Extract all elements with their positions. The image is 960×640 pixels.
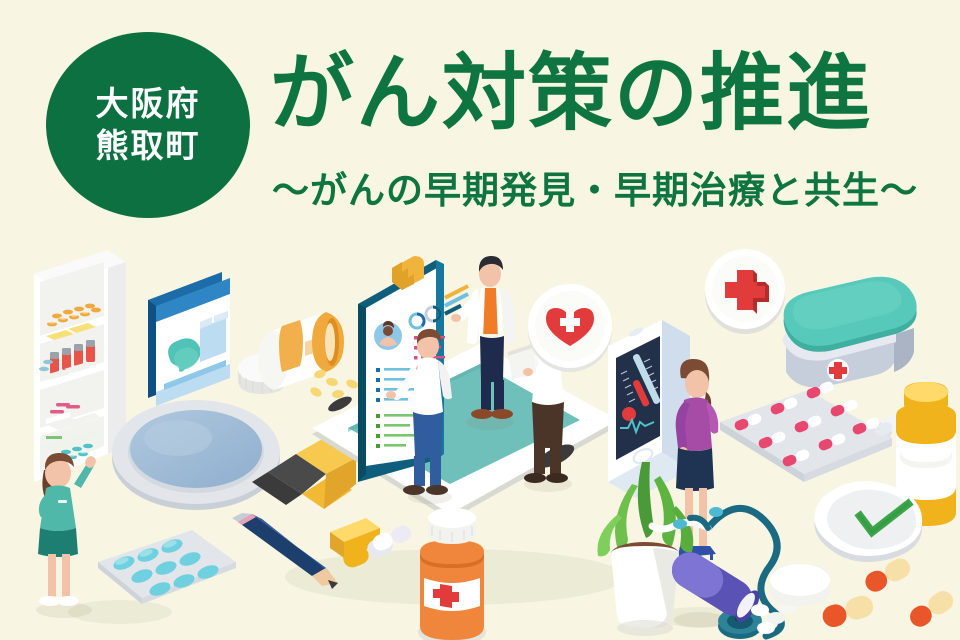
nurse-figure (36, 453, 96, 618)
first-aid-kit (782, 277, 917, 388)
badge-line-town: 熊取町 (96, 125, 201, 167)
browser-window-brain-scan (148, 272, 230, 406)
pencil (232, 513, 338, 589)
red-cross-badge (705, 249, 785, 334)
medical-illustration (0, 232, 960, 640)
blister-pack-blue (98, 530, 236, 604)
banner-root: 大阪府 熊取町 がん対策の推進 〜がんの早期発見・早期治療と共生〜 (0, 0, 960, 640)
magnifying-glass (112, 400, 358, 510)
pill-bottle-spilled (238, 312, 359, 399)
page-subtitle: 〜がんの早期発見・早期治療と共生〜 (272, 160, 932, 214)
checkmark-badge (814, 481, 922, 562)
pharmacy-shelf (34, 250, 126, 482)
capsules-orange (820, 555, 957, 631)
badge-line-prefecture: 大阪府 (96, 83, 201, 125)
page-title: がん対策の推進 (270, 48, 930, 139)
medicine-bottle-orange (418, 508, 486, 640)
prefecture-town-badge: 大阪府 熊取町 (46, 32, 250, 218)
header: 大阪府 熊取町 がん対策の推進 〜がんの早期発見・早期治療と共生〜 (0, 0, 960, 240)
heart-cross-badge (528, 284, 612, 372)
spilled-pills (309, 368, 359, 398)
blister-pack-pink (720, 380, 892, 482)
